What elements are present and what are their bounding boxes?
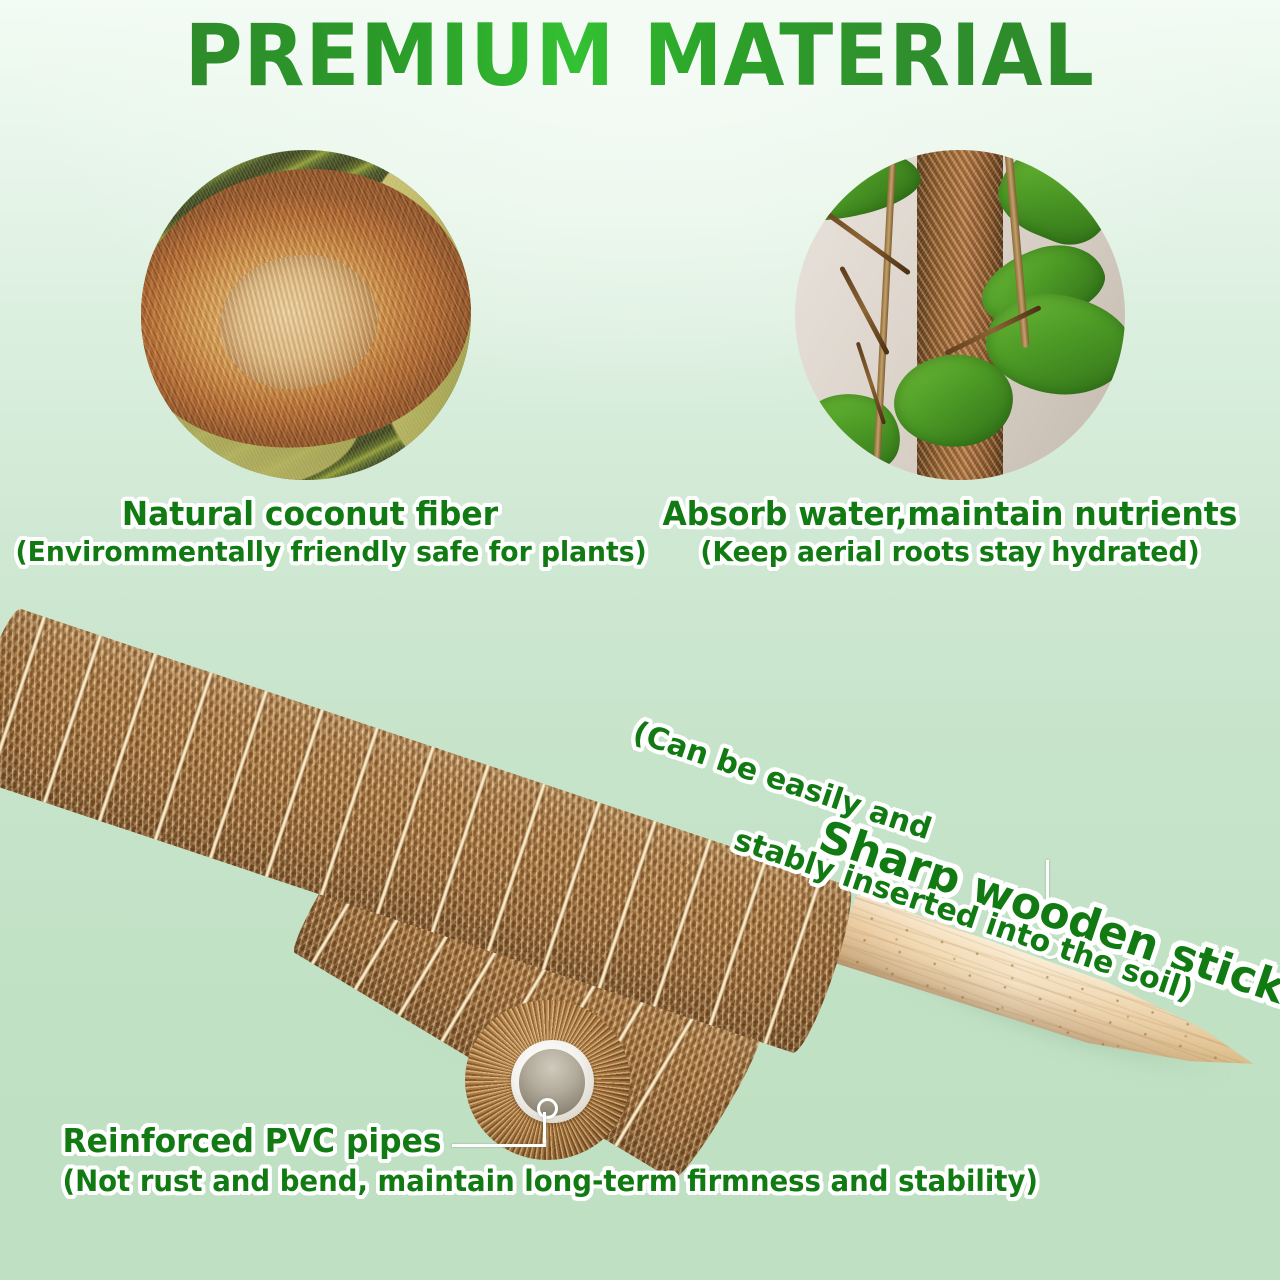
cut-coconut-husk-photo — [141, 150, 471, 480]
caption-headline: Absorb water,maintain nutrients — [646, 494, 1254, 534]
feature-image-absorb-water — [795, 150, 1125, 480]
feature-image-coconut-fiber — [141, 150, 471, 480]
page-title-wrap: PREMIUM MATERIAL — [0, 8, 1280, 104]
caption-absorb-water: Absorb water,maintain nutrients (Keep ae… — [630, 494, 1270, 570]
callout-headline: Reinforced PVC pipes — [63, 1120, 918, 1162]
callout-reinforced-pvc-pipes: Reinforced PVC pipes (Not rust and bend,… — [40, 1120, 940, 1200]
infographic-canvas: PREMIUM MATERIAL — [0, 0, 1280, 1280]
leader-dot — [537, 1098, 558, 1119]
caption-coconut-fiber: Natural coconut fiber (Envirommentally f… — [0, 494, 620, 570]
callout-subline: (Not rust and bend, maintain long-term f… — [63, 1162, 918, 1200]
plant-climbing-moss-pole-photo — [795, 150, 1125, 480]
caption-headline: Natural coconut fiber — [16, 494, 605, 534]
page-title: PREMIUM MATERIAL — [185, 8, 1095, 104]
